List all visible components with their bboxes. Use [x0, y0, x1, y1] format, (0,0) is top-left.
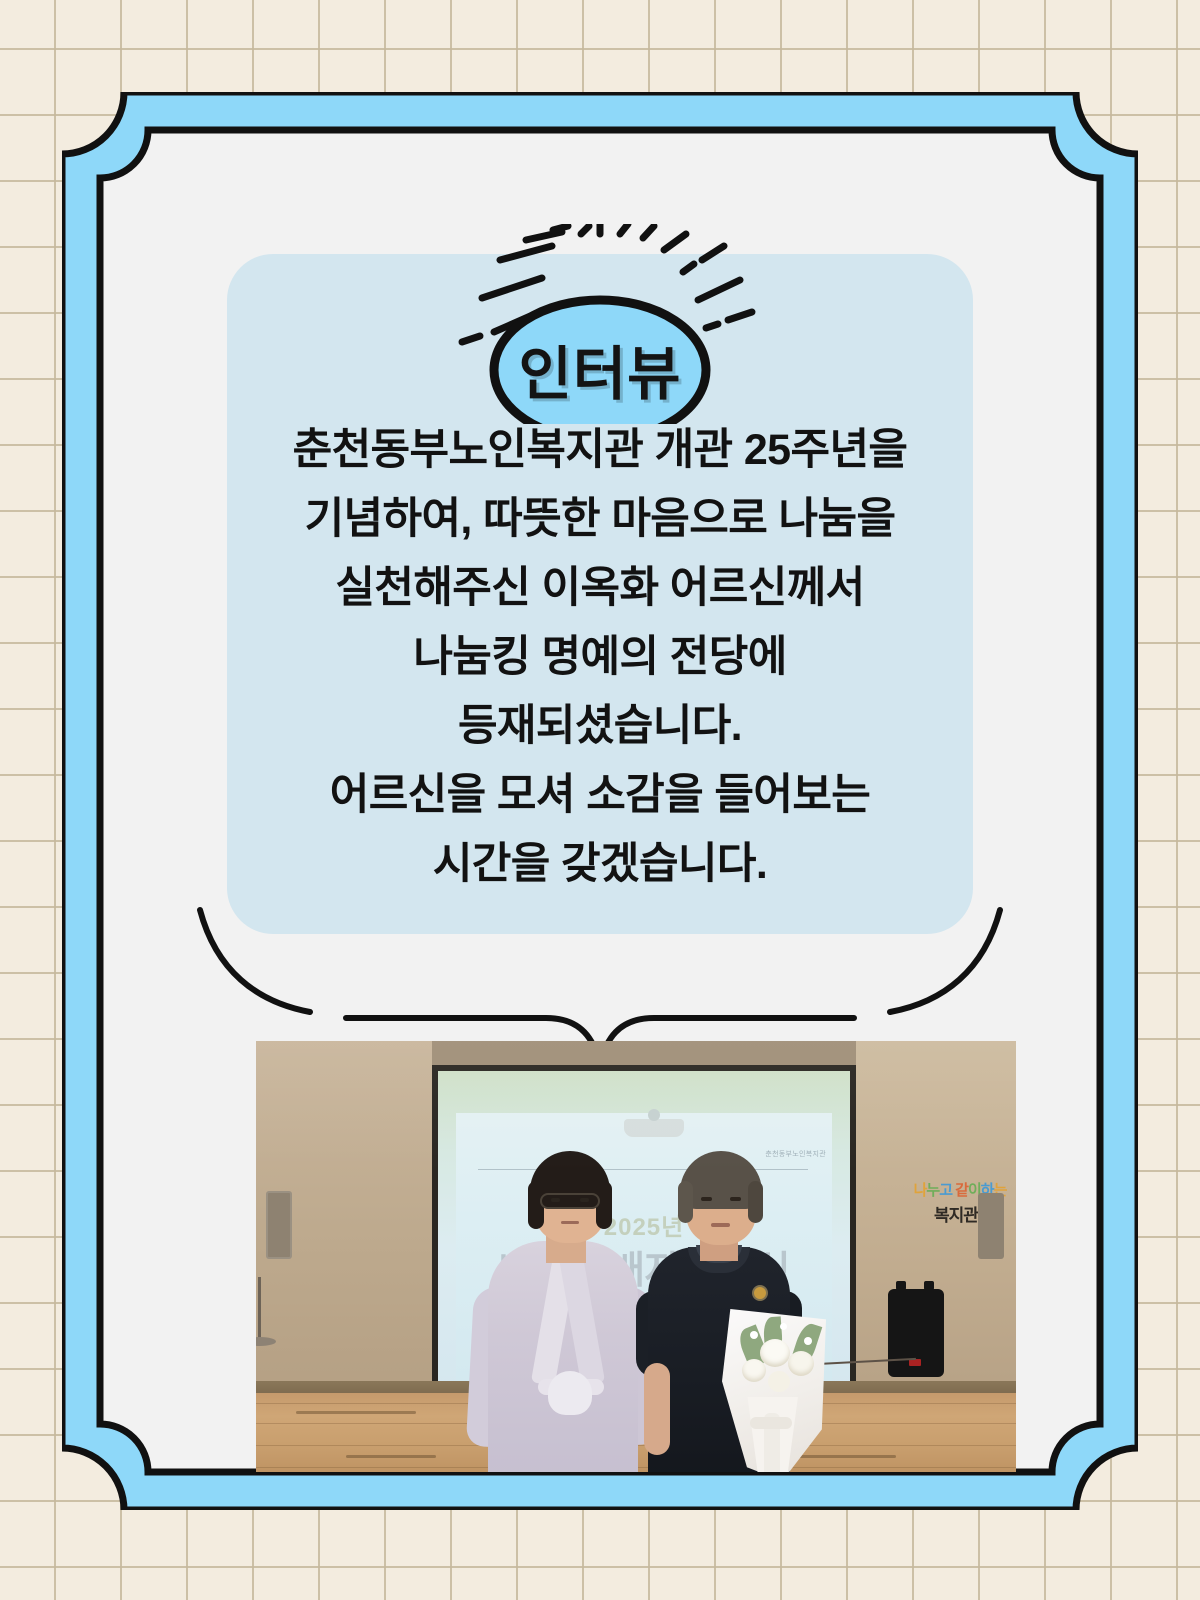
photo-gloss-overlay [256, 1041, 1016, 1472]
card-content-area: 춘천동부노인복지관 개관 25주년을 기념하여, 따뜻한 마음으로 나눔을 실천… [100, 130, 1100, 1472]
ray-9 [643, 226, 654, 238]
tail-left-curve [200, 910, 310, 1012]
ray-3 [500, 246, 552, 260]
ray-8 [620, 224, 628, 234]
ray-2 [482, 278, 542, 298]
interview-badge: 인터뷰 [440, 224, 760, 424]
event-photo: 춘천동부노인복지관 2025년 나눔킹 배지 수여식 2025년 06월 11일… [256, 1041, 1016, 1472]
ray-11 [683, 264, 694, 272]
ray-6 [581, 226, 589, 234]
ray-11b [702, 246, 724, 260]
ray-10 [664, 234, 686, 250]
tail-right-curve [890, 910, 1000, 1012]
ray-5 [553, 226, 568, 230]
decorative-card-frame: 춘천동부노인복지관 개관 25주년을 기념하여, 따뜻한 마음으로 나눔을 실천… [62, 92, 1138, 1510]
ray-4 [526, 232, 562, 240]
badge-label: 인터뷰 [440, 327, 760, 411]
ray-13b [728, 312, 752, 320]
bubble-message: 춘천동부노인복지관 개관 25주년을 기념하여, 따뜻한 마음으로 나눔을 실천… [227, 416, 973, 899]
ray-12 [698, 280, 740, 300]
